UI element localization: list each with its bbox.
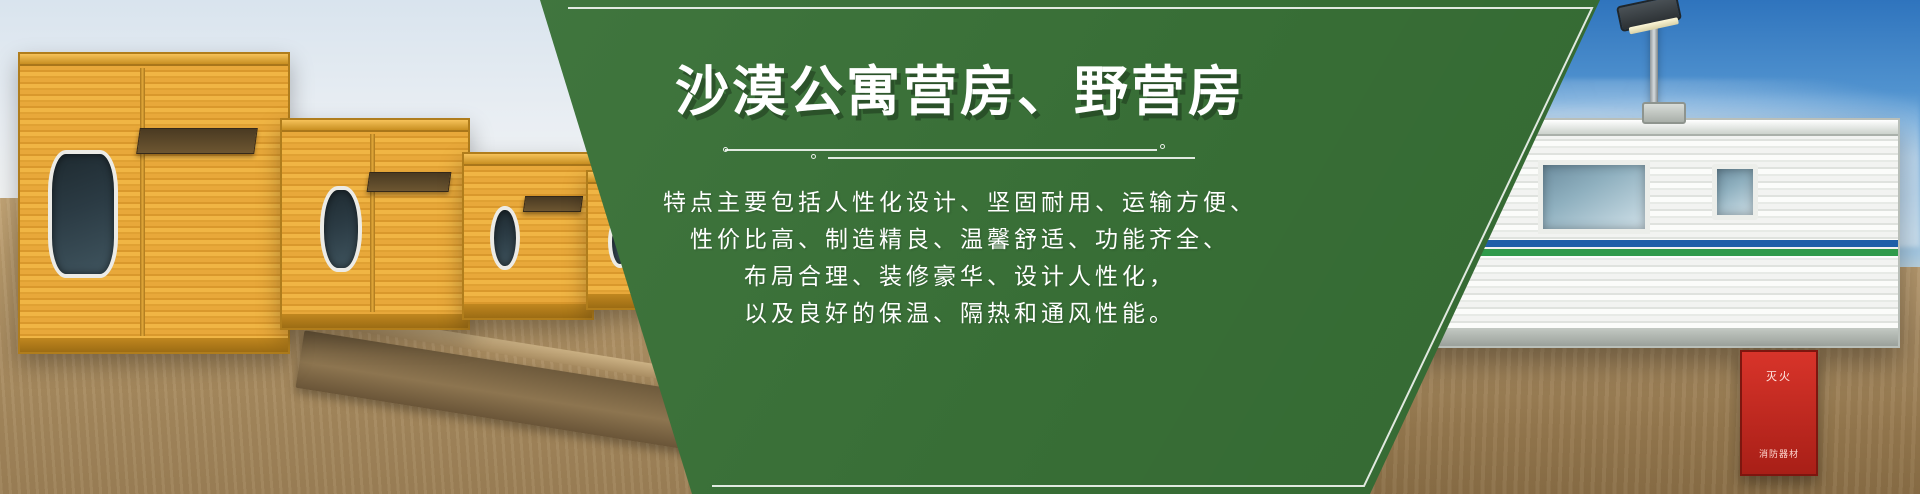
container-bottom-rail	[464, 304, 592, 318]
building-window-small	[1712, 164, 1758, 220]
container-awning	[136, 128, 258, 154]
container-bottom-rail	[282, 314, 468, 328]
fire-box-label-top: 灭火	[1742, 368, 1816, 384]
fire-box-label-bottom: 消防器材	[1742, 447, 1816, 460]
container-unit-3	[462, 152, 594, 320]
container-seam	[370, 134, 375, 312]
container-unit-1	[18, 52, 290, 354]
ac-unit	[1642, 102, 1686, 124]
container-top-rail	[282, 120, 468, 132]
container-awning	[523, 196, 583, 212]
container-window	[320, 186, 362, 272]
container-window	[48, 150, 118, 278]
building-window-large	[1538, 160, 1650, 234]
container-top-rail	[20, 54, 288, 66]
container-unit-2	[280, 118, 470, 330]
container-top-rail	[464, 154, 592, 166]
container-seam	[140, 68, 145, 336]
container-window	[490, 206, 520, 270]
promo-banner: 沙漠营地生活综合区 灭火 消防器材 沙漠公寓营房、野营房	[0, 0, 1920, 494]
fire-equipment-box: 灭火 消防器材	[1740, 350, 1818, 476]
container-awning	[367, 172, 452, 192]
container-bottom-rail	[20, 338, 288, 352]
